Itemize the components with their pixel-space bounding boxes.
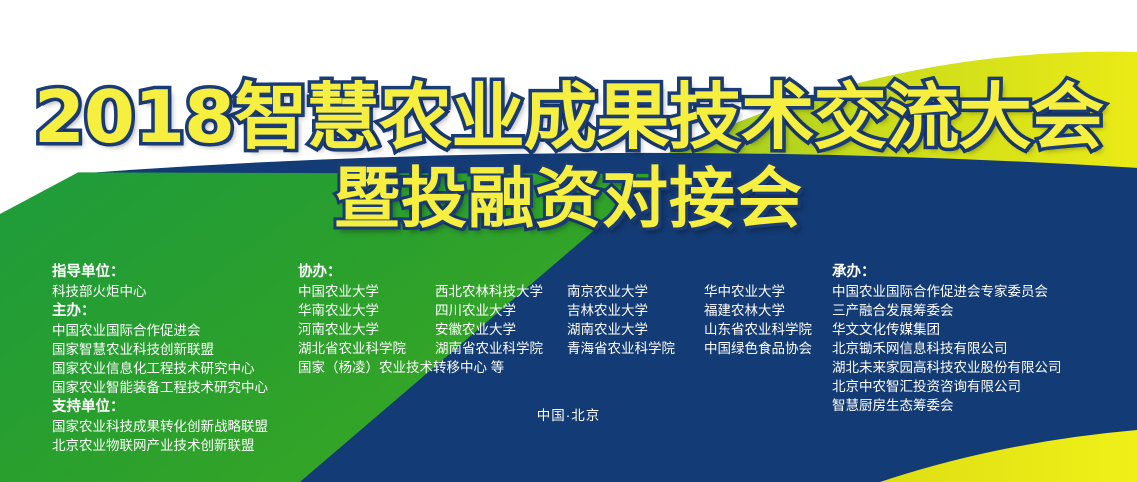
poster-location: 中国·北京	[0, 404, 1137, 424]
credits-column-organizer: 承办： 中国农业国际合作促进会专家委员会 三产融合发展筹委会 华文文化传媒集团 …	[832, 262, 1132, 415]
credits-column-left: 指导单位： 科技部火炬中心 主办： 中国农业国际合作促进会 国家智慧农业科技创新…	[52, 262, 302, 455]
host-item: 中国农业国际合作促进会	[52, 321, 302, 340]
headline-block: 2018智慧农业成果技术交流大会 暨投融资对接会	[0, 78, 1137, 236]
cohost-item: 湖南农业大学	[567, 320, 704, 339]
organizer-header: 承办：	[832, 262, 1132, 282]
cohost-header: 协办：	[298, 262, 818, 282]
poster-title-main: 2018智慧农业成果技术交流大会	[0, 78, 1137, 156]
cohost-item: 中国农业大学	[298, 282, 435, 301]
host-item: 国家农业智能装备工程技术研究中心	[52, 378, 302, 397]
organizer-item: 湖北未来家园高科技农业股份有限公司	[832, 358, 1132, 377]
cohost-item: 河南农业大学	[298, 320, 435, 339]
cohost-item: 青海省农业科学院	[567, 339, 704, 358]
guide-header: 指导单位：	[52, 262, 302, 282]
guide-item: 科技部火炬中心	[52, 282, 302, 301]
cohost-item: 安徽农业大学	[435, 320, 567, 339]
organizer-item: 中国农业国际合作促进会专家委员会	[832, 282, 1132, 301]
organizer-item: 北京中农智汇投资咨询有限公司	[832, 377, 1132, 396]
organizer-item: 北京锄禾网信息科技有限公司	[832, 339, 1132, 358]
cohost-item: 湖南省农业科学院	[435, 339, 567, 358]
cohost-grid: 中国农业大学 西北农林科技大学 南京农业大学 华中农业大学 华南农业大学 四川农…	[298, 282, 818, 358]
host-item: 国家智慧农业科技创新联盟	[52, 340, 302, 359]
cohost-item: 南京农业大学	[567, 282, 704, 301]
host-item: 国家农业信息化工程技术研究中心	[52, 359, 302, 378]
cohost-item: 四川农业大学	[435, 301, 567, 320]
cohost-item: 西北农林科技大学	[435, 282, 567, 301]
poster-title-sub: 暨投融资对接会	[0, 162, 1137, 236]
cohost-item: 华南农业大学	[298, 301, 435, 320]
organizer-item: 三产融合发展筹委会	[832, 301, 1132, 320]
cohost-item: 吉林农业大学	[567, 301, 704, 320]
support-item: 北京农业物联网产业技术创新联盟	[52, 436, 302, 455]
conference-poster: 2018智慧农业成果技术交流大会 暨投融资对接会 指导单位： 科技部火炬中心 主…	[0, 0, 1137, 482]
cohost-item: 中国绿色食品协会	[704, 339, 818, 358]
host-header: 主办：	[52, 301, 302, 321]
cohost-item: 湖北省农业科学院	[298, 339, 435, 358]
organizer-item: 华文文化传媒集团	[832, 320, 1132, 339]
cohost-item: 华中农业大学	[704, 282, 818, 301]
credits-column-cohost: 协办： 中国农业大学 西北农林科技大学 南京农业大学 华中农业大学 华南农业大学…	[298, 262, 818, 377]
cohost-item: 山东省农业科学院	[704, 320, 818, 339]
cohost-last-line: 国家（杨凌）农业技术转移中心 等	[298, 358, 818, 377]
cohost-item: 福建农林大学	[704, 301, 818, 320]
